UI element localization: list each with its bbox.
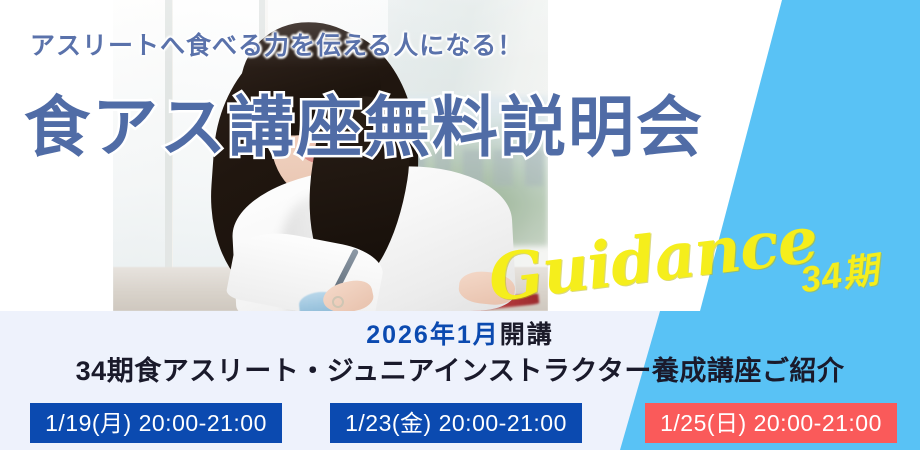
course-title-line: 34期食アスリート・ジュニアインストラクター養成講座ご紹介 [0,349,920,388]
tagline: アスリートへ食べる力を伝える人になる！ [30,26,523,62]
session-chip-3[interactable]: 1/25(日) 20:00-21:00 [645,403,897,443]
course-start-line: 2026年1月開講 [0,315,920,351]
info-bar: 2026年1月開講 34期食アスリート・ジュニアインストラクター養成講座ご紹介 … [0,311,920,450]
page-title: 食アス講座無料説明会 [24,74,704,170]
course-start-rest: 開講 [500,321,554,349]
course-start-highlight: 2026年1月 [366,321,500,349]
session-chip-1[interactable]: 1/19(月) 20:00-21:00 [30,403,282,443]
term-badge: 34期 [797,241,883,303]
session-chip-2[interactable]: 1/23(金) 20:00-21:00 [330,403,582,443]
session-list: 1/19(月) 20:00-21:00 1/23(金) 20:00-21:00 … [0,395,920,450]
seminar-banner: アスリートへ食べる力を伝える人になる！ 食アス講座無料説明会 Guidance … [0,0,920,450]
hero-section: アスリートへ食べる力を伝える人になる！ 食アス講座無料説明会 Guidance … [0,0,920,311]
